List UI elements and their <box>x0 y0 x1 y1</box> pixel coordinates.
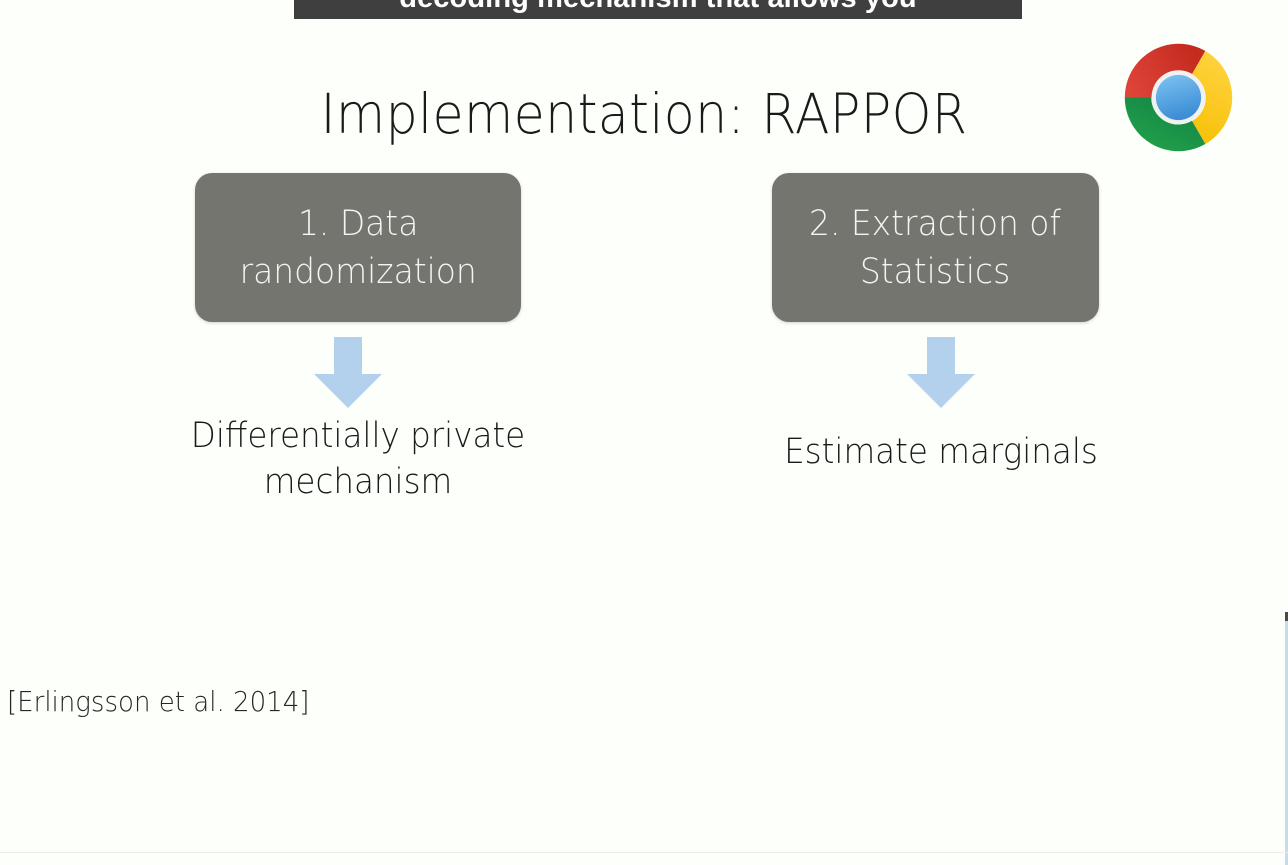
video-caption-text: decoding mechanism that allows you <box>399 0 916 19</box>
process-box-2-label: 2. Extraction of Statistics <box>796 200 1074 296</box>
down-arrow-icon-1 <box>311 337 385 410</box>
slide-title: Implementation: RAPPOR <box>52 82 1237 146</box>
process-box-2-line1: 2. Extraction of <box>810 204 1062 244</box>
slide-canvas: decoding mechanism that allows you Imple… <box>0 0 1288 865</box>
process-box-1-line1: 1. Data <box>298 204 418 244</box>
outcome-1-line1: Differentially private <box>191 416 525 456</box>
citation-text: [Erlingsson et al. 2014] <box>7 685 309 718</box>
process-box-2-line2: Statistics <box>860 252 1010 292</box>
process-box-extraction-of-statistics[interactable]: 2. Extraction of Statistics <box>772 173 1099 322</box>
process-box-1-line2: randomization <box>239 252 476 292</box>
chrome-logo-icon <box>1122 41 1235 154</box>
video-caption-band: decoding mechanism that allows you <box>294 0 1022 19</box>
outcome-label-estimate-marginals: Estimate marginals <box>755 429 1127 475</box>
down-arrow-icon-2 <box>904 337 978 410</box>
process-box-data-randomization[interactable]: 1. Data randomization <box>195 173 521 322</box>
process-box-1-label: 1. Data randomization <box>226 200 490 296</box>
outcome-2-line1: Estimate marginals <box>784 432 1098 472</box>
outcome-label-differentially-private-mechanism: Differentially private mechanism <box>172 413 544 505</box>
bottom-divider <box>0 852 1288 853</box>
outcome-1-line2: mechanism <box>264 462 453 502</box>
